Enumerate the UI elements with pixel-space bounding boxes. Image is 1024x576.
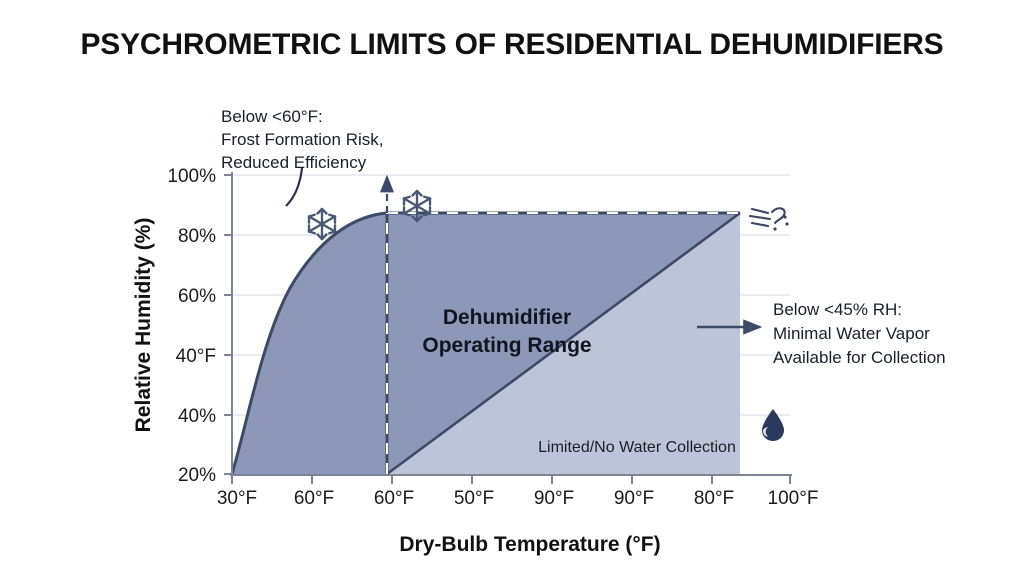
x-axis-ticks (232, 475, 790, 484)
x-tick-label-5: 90°F (614, 488, 654, 509)
x-tick-label-1: 60°F (294, 488, 334, 509)
frost-annotation-leader (286, 168, 302, 206)
x-tick-label-2: 60°F (374, 488, 414, 509)
y-tick-label-2: 60% (178, 286, 216, 307)
x-tick-label-3: 50°F (454, 488, 494, 509)
x-tick-label-0: 30°F (217, 488, 257, 509)
chart-page: PSYCHROMETRIC LIMITS OF RESIDENTIAL DEHU… (0, 0, 1024, 576)
psychrometric-chart: 100% 80% 60% 40°F 40% 20% 30°F 60°F 60°F… (0, 0, 1024, 576)
x-tick-label-7: 100°F (768, 488, 819, 509)
frost-annotation-line2: Frost Formation Risk, (221, 130, 383, 149)
y-tick-label-3: 40°F (176, 346, 216, 367)
y-axis-ticks (224, 175, 232, 474)
y-tick-label-4: 40% (178, 406, 216, 427)
x-axis-title: Dry-Bulb Temperature (°F) (399, 533, 660, 556)
low-rh-annotation-line3: Available for Collection (773, 348, 946, 367)
y-tick-label-1: 80% (178, 226, 216, 247)
frost-annotation-line3: Reduced Efficiency (221, 153, 367, 172)
y-tick-label-0: 100% (167, 166, 216, 187)
operating-range-label-line1: Dehumidifier (443, 306, 571, 329)
operating-range-label-line2: Operating Range (422, 334, 591, 357)
x-tick-label-4: 90°F (534, 488, 574, 509)
frost-annotation-line1: Below <60°F: (221, 107, 323, 126)
y-axis-title: Relative Humidity (%) (132, 218, 155, 433)
low-rh-annotation-line2: Minimal Water Vapor (773, 324, 930, 343)
x-tick-label-6: 80°F (694, 488, 734, 509)
vapor-wind-icon (750, 208, 789, 230)
y-tick-label-5: 20% (178, 465, 216, 486)
low-rh-annotation-line1: Below <45% RH: (773, 300, 902, 319)
limited-collection-label: Limited/No Water Collection (538, 439, 736, 456)
water-droplet-icon (762, 409, 784, 441)
